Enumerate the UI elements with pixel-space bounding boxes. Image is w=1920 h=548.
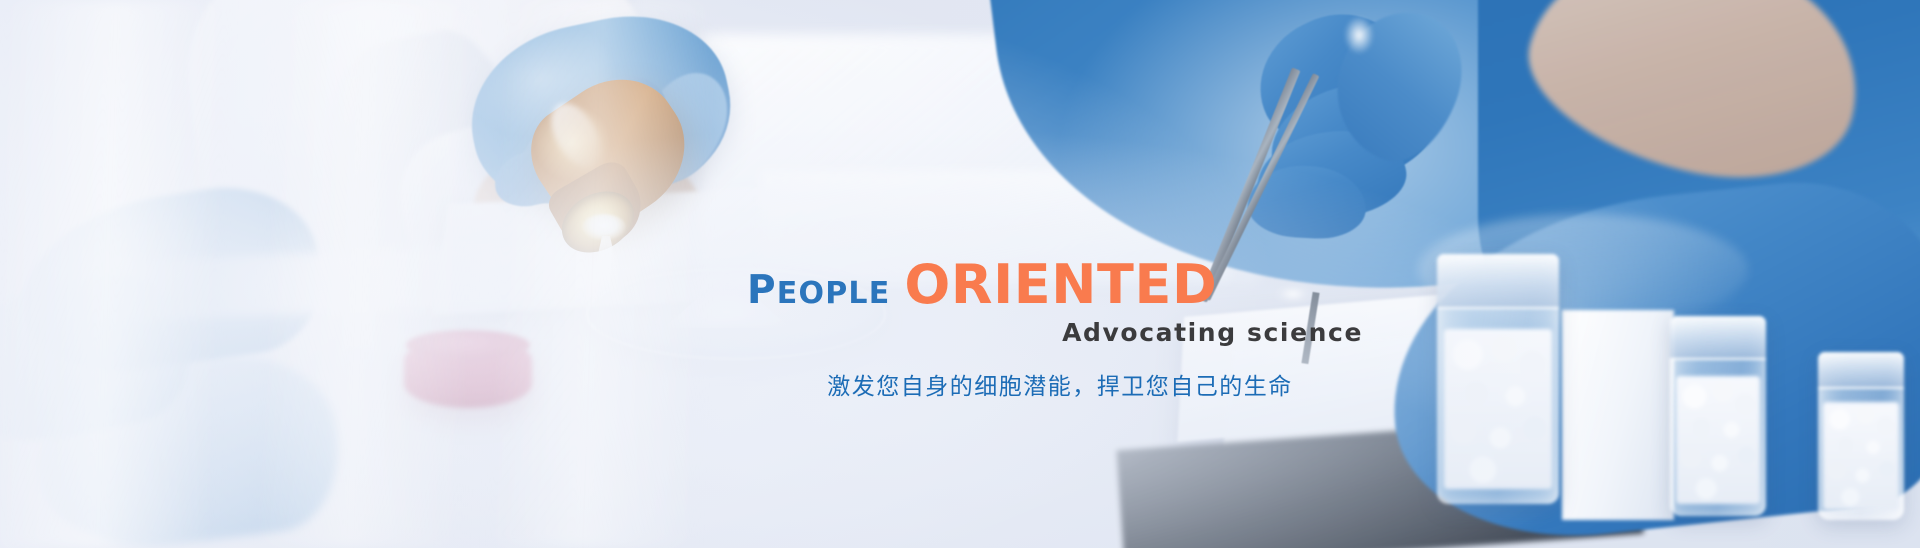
banner-subline: Advocating science xyxy=(747,318,1367,347)
tablet-vial xyxy=(1437,254,1559,504)
vial-tablets xyxy=(1823,402,1899,510)
headline-accent: ORIENTED xyxy=(904,253,1217,316)
banner-tagline-cn: 激发您自身的细胞潜能，捍卫您自己的生命 xyxy=(747,367,1367,401)
hero-banner: PEOPLEORIENTED Advocating science 激发您自身的… xyxy=(0,0,1920,548)
paper-strip xyxy=(1562,310,1674,520)
headline-primary: PEOPLE xyxy=(747,268,890,313)
vial-cap xyxy=(1818,352,1904,389)
headline-primary-cap: P xyxy=(747,268,777,313)
vial-cap xyxy=(1437,254,1559,309)
vial-tablets xyxy=(1676,376,1761,504)
vial-cap xyxy=(1670,316,1766,360)
tablet-vial xyxy=(1670,316,1766,516)
banner-headline: PEOPLEORIENTED xyxy=(747,258,1367,312)
headline-primary-rest: EOPLE xyxy=(777,276,891,311)
vial-tablets xyxy=(1444,329,1551,489)
magenta-bottle-cap-rim xyxy=(406,330,530,360)
tablet-vial xyxy=(1818,352,1904,520)
glove-highlight xyxy=(1338,8,1380,62)
banner-copy: PEOPLEORIENTED Advocating science 激发您自身的… xyxy=(747,258,1367,401)
